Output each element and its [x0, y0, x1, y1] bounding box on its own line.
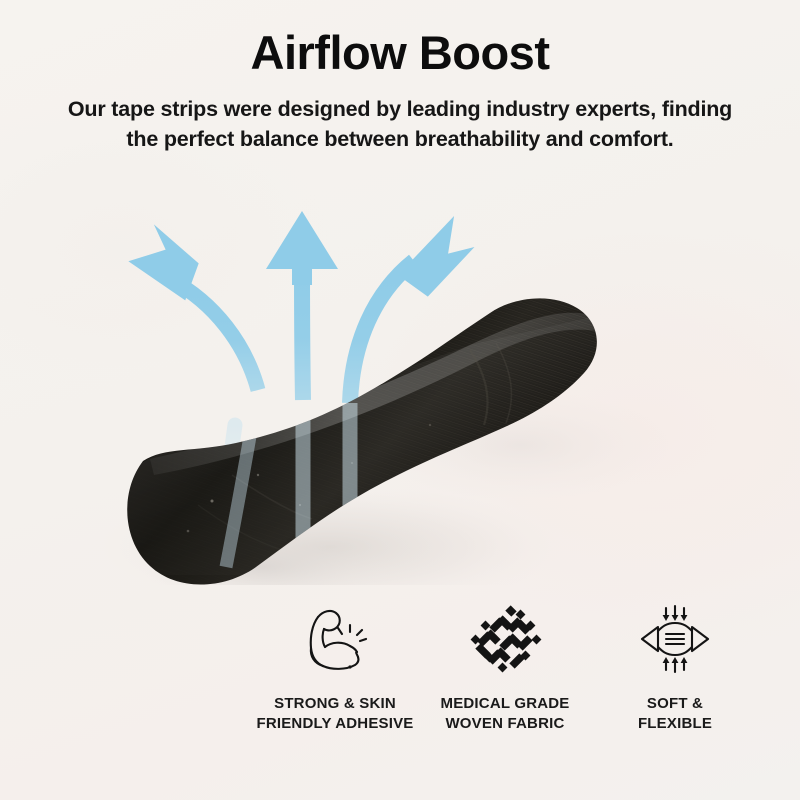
feature-label-line-2: WOVEN FABRIC: [441, 714, 570, 734]
feature-item-soft-flexible: SOFT & FLEXIBLE: [595, 600, 755, 733]
feature-label-line-1: SOFT &: [638, 694, 712, 714]
product-feature-banner: Airflow Boost Our tape strips were desig…: [0, 0, 800, 800]
airflow-arrow-left: [126, 221, 258, 390]
feature-label: SOFT & FLEXIBLE: [638, 694, 712, 733]
stretch-arrows-icon: [632, 600, 718, 678]
woven-fabric-icon: [466, 600, 544, 678]
feature-label-line-2: FLEXIBLE: [638, 714, 712, 734]
subtitle-line-2: the perfect balance between breathabilit…: [50, 125, 750, 155]
feature-item-strong-adhesive: STRONG & SKIN FRIENDLY ADHESIVE: [255, 600, 415, 733]
feature-label-line-1: STRONG & SKIN: [256, 694, 413, 714]
airflow-arrow-center: [266, 211, 338, 400]
feature-label: MEDICAL GRADE WOVEN FABRIC: [441, 694, 570, 733]
hero-product-image: [0, 175, 800, 585]
header: Airflow Boost Our tape strips were desig…: [0, 0, 800, 155]
feature-label: STRONG & SKIN FRIENDLY ADHESIVE: [256, 694, 413, 733]
feature-label-line-1: MEDICAL GRADE: [441, 694, 570, 714]
flexing-bicep-icon: [298, 600, 372, 678]
feature-item-woven-fabric: MEDICAL GRADE WOVEN FABRIC: [425, 600, 585, 733]
page-title: Airflow Boost: [0, 28, 800, 77]
subtitle-line-1: Our tape strips were designed by leading…: [50, 95, 750, 125]
feature-list: STRONG & SKIN FRIENDLY ADHESIVE: [255, 600, 755, 733]
feature-label-line-2: FRIENDLY ADHESIVE: [256, 714, 413, 734]
page-subtitle: Our tape strips were designed by leading…: [50, 95, 750, 154]
